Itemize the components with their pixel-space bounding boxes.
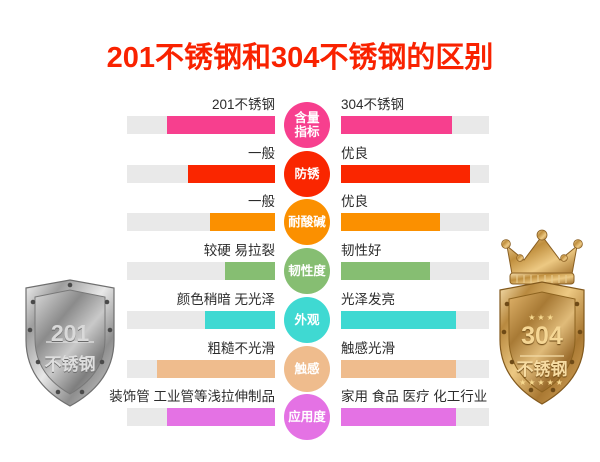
right-bar-fill xyxy=(341,311,456,329)
row-right-304: 304不锈钢 xyxy=(341,96,491,144)
right-label: 韧性好 xyxy=(341,242,382,259)
row-right-304: 优良 xyxy=(341,145,491,193)
right-bar-track xyxy=(341,262,489,280)
row-right-304: 触感光滑 xyxy=(341,340,491,388)
left-label: 201不锈钢 xyxy=(212,96,275,113)
left-bar-fill xyxy=(205,311,275,329)
left-bar-track xyxy=(127,165,275,183)
right-bar-fill xyxy=(341,360,456,378)
shield-304-stars-bottom: ★★★★★ xyxy=(490,378,594,387)
left-bar-track xyxy=(127,213,275,231)
shield-201-grade: 201 xyxy=(18,320,122,347)
right-label: 优良 xyxy=(341,193,368,210)
right-label: 304不锈钢 xyxy=(341,96,404,113)
left-label: 粗糙不光滑 xyxy=(208,340,276,357)
left-bar-track xyxy=(127,408,275,426)
left-label: 较硬 易拉裂 xyxy=(204,242,275,259)
category-badge-line1: 韧性度 xyxy=(288,264,326,278)
row-left-201: 201不锈钢 xyxy=(125,96,275,144)
shield-201: 201 不锈钢 xyxy=(18,278,122,410)
left-bar-track xyxy=(127,262,275,280)
page-title: 201不锈钢和304不锈钢的区别 xyxy=(0,34,600,76)
shield-201-material: 不锈钢 xyxy=(18,350,122,375)
category-badge-line1: 应用度 xyxy=(288,410,326,424)
right-bar-track xyxy=(341,408,489,426)
row-left-201: 较硬 易拉裂 xyxy=(125,242,275,290)
right-bar-fill xyxy=(341,262,430,280)
left-label: 颜色稍暗 无光泽 xyxy=(177,291,275,308)
category-badge-line1: 防锈 xyxy=(294,167,319,181)
left-bar-track xyxy=(127,116,275,134)
row-left-201: 一般 xyxy=(125,145,275,193)
right-bar-fill xyxy=(341,116,452,134)
left-bar-fill xyxy=(167,116,275,134)
right-bar-track xyxy=(341,116,489,134)
shield-304-grade: 304 xyxy=(490,322,594,351)
right-bar-fill xyxy=(341,165,470,183)
right-label: 光泽发亮 xyxy=(341,291,395,308)
row-left-201: 装饰管 工业管等浅拉伸制品 xyxy=(125,388,275,436)
left-label: 一般 xyxy=(248,193,275,210)
category-badge[interactable]: 应用度 xyxy=(284,394,330,440)
category-badge[interactable]: 外观 xyxy=(284,297,330,343)
row-left-201: 颜色稍暗 无光泽 xyxy=(125,291,275,339)
right-label: 优良 xyxy=(341,145,368,162)
category-badge-line1: 含量 xyxy=(294,111,319,125)
right-label: 触感光滑 xyxy=(341,340,395,357)
left-label: 一般 xyxy=(248,145,275,162)
row-right-304: 光泽发亮 xyxy=(341,291,491,339)
row-left-201: 一般 xyxy=(125,193,275,241)
left-bar-fill xyxy=(188,165,275,183)
right-bar-fill xyxy=(341,408,456,426)
right-bar-track xyxy=(341,360,489,378)
right-bar-track xyxy=(341,165,489,183)
right-bar-track xyxy=(341,311,489,329)
crown-icon xyxy=(502,230,583,284)
category-badge-line2: 指标 xyxy=(294,125,319,139)
shield-304-material: 不锈钢 xyxy=(490,355,594,380)
right-bar-fill xyxy=(341,213,440,231)
left-bar-fill xyxy=(210,213,275,231)
left-bar-track xyxy=(127,360,275,378)
left-label: 装饰管 工业管等浅拉伸制品 xyxy=(109,388,275,405)
category-badge-line1: 触感 xyxy=(294,362,319,376)
category-badge[interactable]: 韧性度 xyxy=(284,248,330,294)
row-right-304: 家用 食品 医疗 化工行业 xyxy=(341,388,491,436)
category-badge-line1: 耐酸碱 xyxy=(288,215,326,229)
row-right-304: 韧性好 xyxy=(341,242,491,290)
infographic-page: 201不锈钢和304不锈钢的区别 201不锈钢304不锈钢含量指标一般优良防锈一… xyxy=(0,0,600,462)
category-badge-line1: 外观 xyxy=(294,313,319,327)
right-bar-track xyxy=(341,213,489,231)
row-left-201: 粗糙不光滑 xyxy=(125,340,275,388)
right-label: 家用 食品 医疗 化工行业 xyxy=(341,388,487,405)
category-badge[interactable]: 含量指标 xyxy=(284,102,330,148)
left-bar-fill xyxy=(225,262,275,280)
row-right-304: 优良 xyxy=(341,193,491,241)
left-bar-fill xyxy=(167,408,275,426)
category-badge[interactable]: 耐酸碱 xyxy=(284,199,330,245)
category-badge[interactable]: 触感 xyxy=(284,346,330,392)
left-bar-track xyxy=(127,311,275,329)
shield-304-stars-top: ★★★ xyxy=(490,313,594,322)
shield-304: ★★★ 304 不锈钢 ★★★★★ xyxy=(490,228,594,408)
category-badge[interactable]: 防锈 xyxy=(284,151,330,197)
left-bar-fill xyxy=(157,360,275,378)
